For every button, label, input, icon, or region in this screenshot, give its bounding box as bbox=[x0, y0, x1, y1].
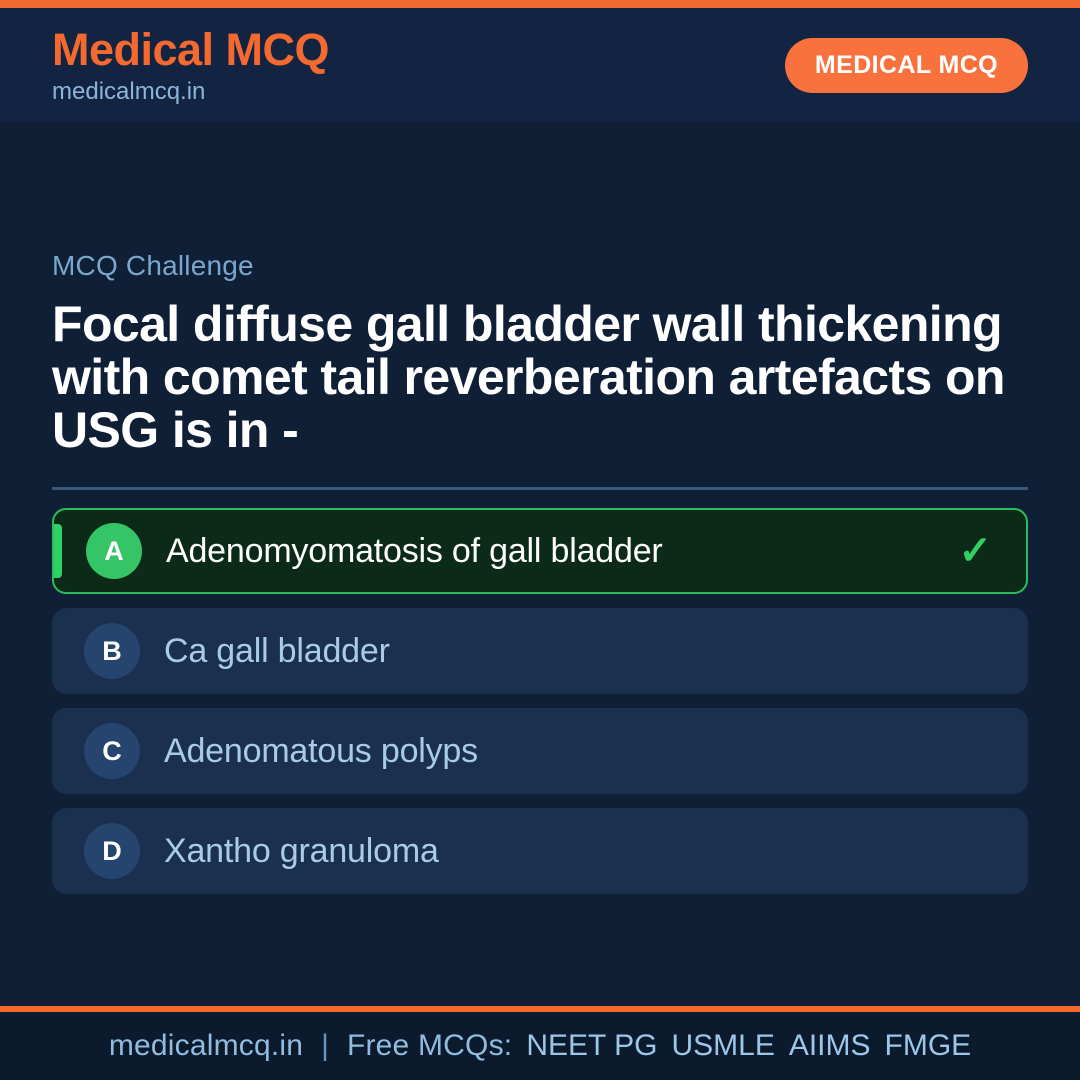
correct-accent-bar bbox=[54, 524, 62, 578]
option-d[interactable]: D Xantho granuloma bbox=[52, 808, 1028, 894]
brand-badge: MEDICAL MCQ bbox=[785, 38, 1028, 93]
footer-exam-fmge: FMGE bbox=[871, 1029, 972, 1063]
top-accent-bar bbox=[0, 0, 1080, 8]
brand-title: Medical MCQ bbox=[52, 27, 329, 72]
option-b-label: Ca gall bladder bbox=[164, 632, 390, 671]
footer-bar: medicalmcq.in | Free MCQs: NEET PG USMLE… bbox=[0, 1012, 1080, 1080]
option-c-label: Adenomatous polyps bbox=[164, 732, 478, 771]
footer-separator: | bbox=[303, 1029, 347, 1063]
check-icon: ✓ bbox=[958, 531, 1000, 571]
footer-exam-aiims: AIIMS bbox=[775, 1029, 871, 1063]
option-b-letter-badge: B bbox=[84, 623, 140, 679]
question-divider bbox=[52, 487, 1028, 490]
footer-exam-neetpg: NEET PG bbox=[512, 1029, 657, 1063]
footer-site: medicalmcq.in bbox=[109, 1029, 303, 1063]
question-text: Focal diffuse gall bladder wall thickeni… bbox=[52, 298, 1028, 457]
footer-exam-usmle: USMLE bbox=[657, 1029, 774, 1063]
mcq-kicker-label: MCQ Challenge bbox=[52, 250, 1028, 282]
option-a[interactable]: A Adenomyomatosis of gall bladder ✓ bbox=[52, 508, 1028, 594]
mcq-card: Medical MCQ medicalmcq.in MEDICAL MCQ MC… bbox=[0, 0, 1080, 1080]
option-c[interactable]: C Adenomatous polyps bbox=[52, 708, 1028, 794]
footer-exams-label: Free MCQs: bbox=[347, 1029, 512, 1063]
options-list: A Adenomyomatosis of gall bladder ✓ B Ca… bbox=[52, 508, 1028, 894]
main-content: MCQ Challenge Focal diffuse gall bladder… bbox=[0, 126, 1080, 1006]
option-a-letter-badge: A bbox=[86, 523, 142, 579]
option-c-letter-badge: C bbox=[84, 723, 140, 779]
option-d-letter-badge: D bbox=[84, 823, 140, 879]
option-a-label: Adenomyomatosis of gall bladder bbox=[166, 532, 663, 571]
option-d-label: Xantho granuloma bbox=[164, 832, 439, 871]
option-b[interactable]: B Ca gall bladder bbox=[52, 608, 1028, 694]
brand-url: medicalmcq.in bbox=[52, 80, 329, 104]
brand: Medical MCQ medicalmcq.in bbox=[52, 27, 329, 104]
header-bar: Medical MCQ medicalmcq.in MEDICAL MCQ bbox=[0, 8, 1080, 122]
